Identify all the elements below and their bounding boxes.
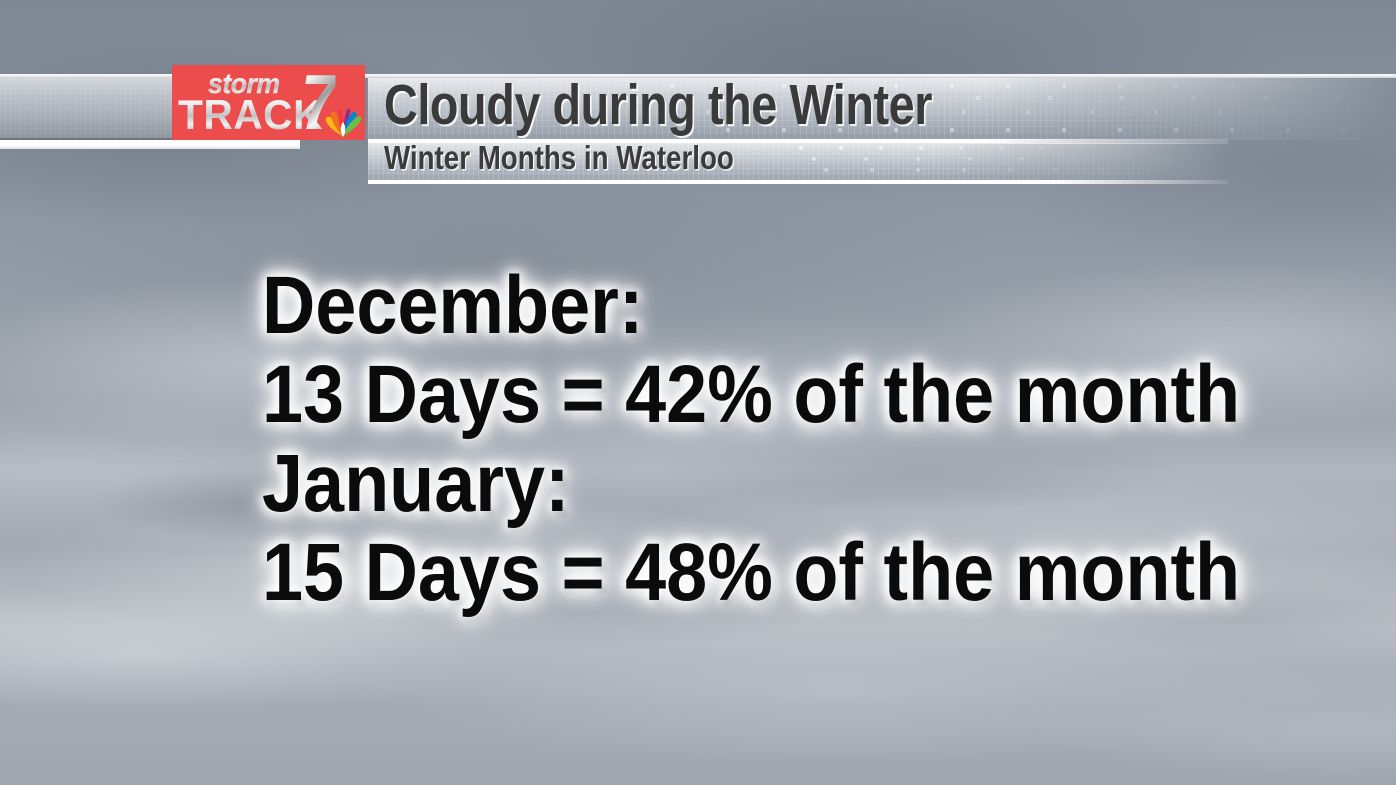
storm-track-7-logo[interactable]: storm TRACK 7 <box>172 65 365 140</box>
banner-left-white-strip <box>0 140 300 149</box>
december-label: December: <box>262 262 1072 350</box>
forecast-text-block: December: 13 Days = 42% of the month Jan… <box>262 262 1162 618</box>
banner-subtitle-pixel-mosaic <box>798 143 1228 181</box>
broadcast-weather-graphic: Cloudy during the Winter Winter Months i… <box>0 0 1396 785</box>
banner-subtitle-underline <box>368 180 1228 184</box>
january-stat: 15 Days = 48% of the month <box>262 528 1072 618</box>
banner-left-silver-slab <box>0 78 178 140</box>
page-title: Cloudy during the Winter <box>384 74 932 136</box>
january-label: January: <box>262 440 1072 528</box>
header-banner: Cloudy during the Winter Winter Months i… <box>0 0 1396 200</box>
banner-left-grid-texture <box>0 78 178 140</box>
page-subtitle: Winter Months in Waterloo <box>384 139 734 177</box>
nbc-peacock-icon <box>320 105 365 138</box>
december-stat: 13 Days = 42% of the month <box>262 350 1072 440</box>
